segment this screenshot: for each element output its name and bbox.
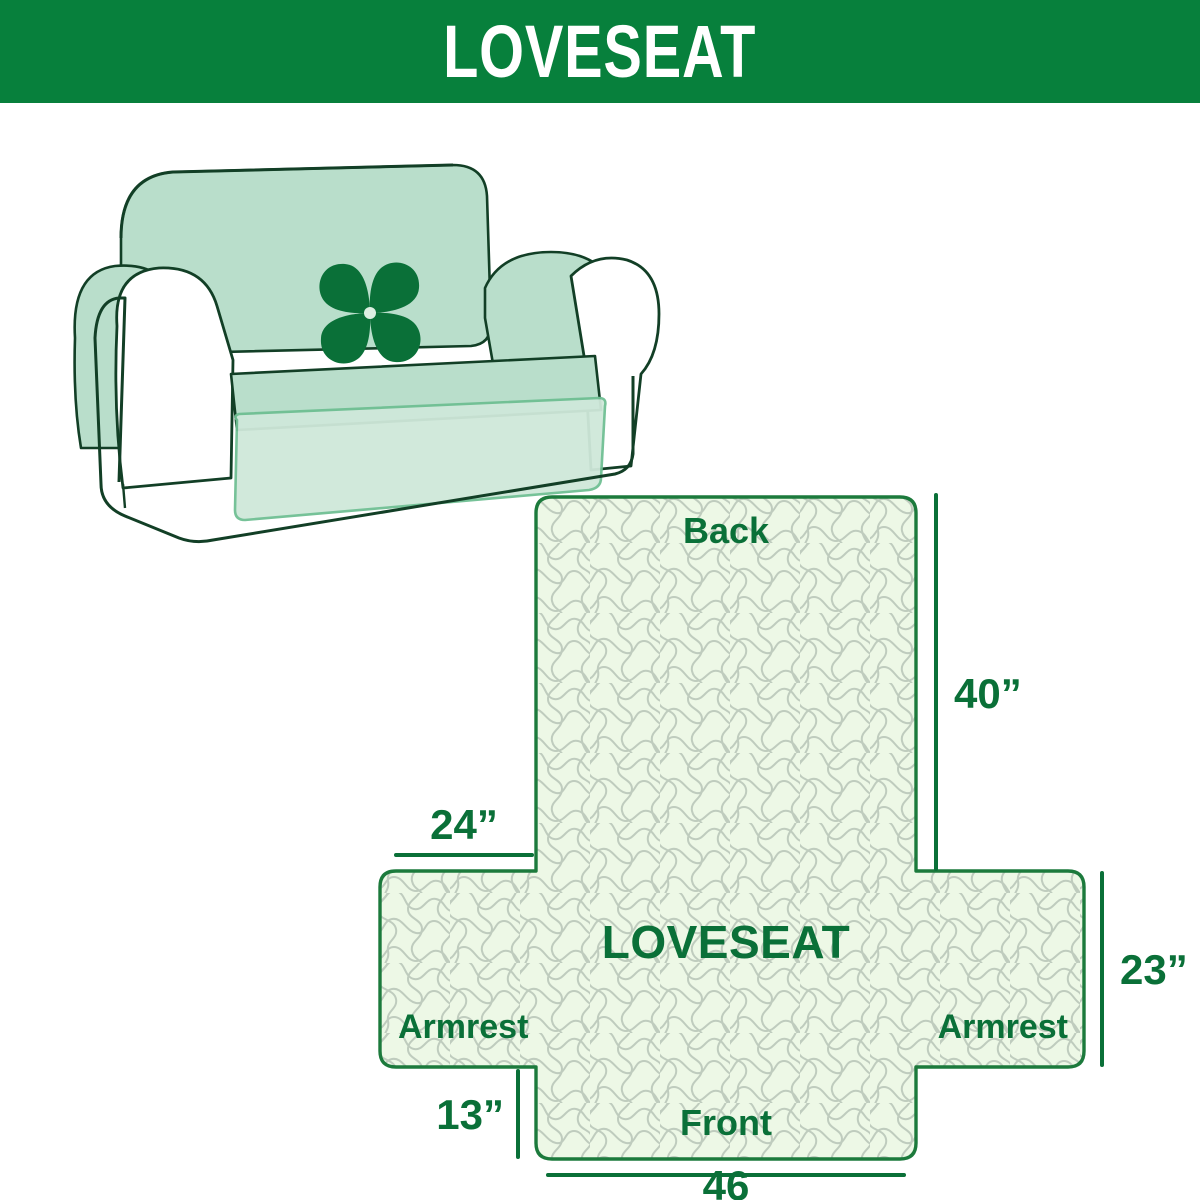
dimension-armrest-width: 24” <box>396 801 532 855</box>
dimension-diagram: Back LOVESEAT Armrest Armrest Front 40” … <box>380 473 1200 1200</box>
page-title: LOVESEAT <box>443 15 756 89</box>
dimension-front-height: 13” <box>436 1071 518 1157</box>
panel-label-armrest-left: Armrest <box>398 1008 528 1046</box>
dimension-value-23: 23” <box>1120 946 1188 993</box>
dimension-value-46: 46 <box>703 1162 750 1200</box>
dimension-value-40: 40” <box>954 670 1022 717</box>
dimension-seat-depth: 23” <box>1102 873 1188 1065</box>
dimension-value-13: 13” <box>436 1091 504 1138</box>
center-label-loveseat: LOVESEAT <box>602 916 851 968</box>
panel-label-back: Back <box>683 510 770 551</box>
header-banner: LOVESEAT <box>0 0 1200 103</box>
dimension-front-width: 46 <box>548 1162 904 1200</box>
dimension-back-height: 40” <box>936 495 1022 869</box>
diagram-stage: Back LOVESEAT Armrest Armrest Front 40” … <box>0 103 1200 1200</box>
panel-label-front: Front <box>680 1102 772 1143</box>
panel-label-armrest-right: Armrest <box>938 1008 1068 1046</box>
dimension-value-24: 24” <box>430 801 498 848</box>
